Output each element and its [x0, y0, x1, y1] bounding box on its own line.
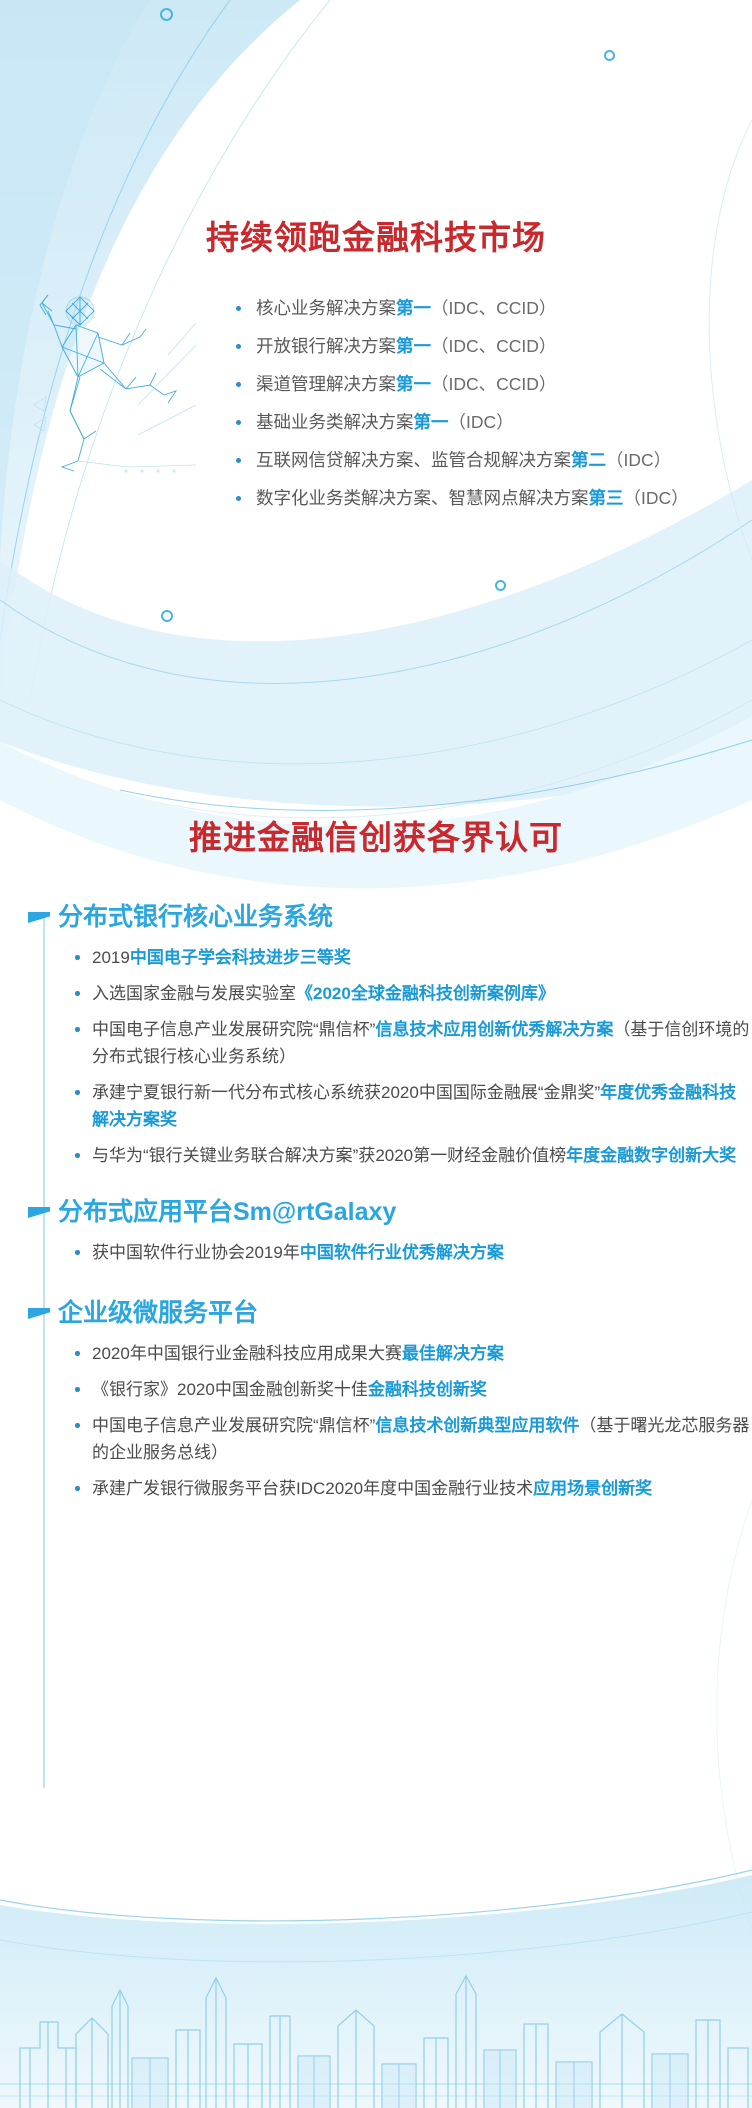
item-part: 中国电子信息产业发展研究院“鼎信杯”: [92, 1416, 375, 1435]
list-item: 开放银行解决方案第一（IDC、CCID）: [232, 334, 702, 359]
item-part: 承建宁夏银行新一代分布式核心系统获2020中国国际金融展“金鼎奖”: [92, 1083, 600, 1102]
item-part: 2019: [92, 948, 130, 967]
bullet-source: （IDC、CCID）: [431, 298, 556, 318]
list-item: 承建广发银行微服务平台获IDC2020年度中国金融行业技术应用场景创新奖: [72, 1475, 752, 1502]
list-item: 与华为“银行关键业务联合解决方案”获2020第一财经金融价值榜年度金融数字创新大…: [72, 1142, 752, 1169]
group-heading: 企业级微服务平台: [58, 1296, 752, 1330]
bullet-rank: 第二: [571, 450, 606, 470]
section2-groups: 分布式银行核心业务系统 2019中国电子学会科技进步三等奖 入选国家金融与发展实…: [0, 900, 752, 1511]
group-heading-text: 分布式应用平台Sm@rtGalaxy: [58, 1198, 396, 1226]
bullet-source: （IDC、CCID）: [431, 336, 556, 356]
running-man-wireframe-icon: [18, 285, 198, 475]
group-heading: 分布式银行核心业务系统: [58, 900, 752, 934]
bullet-lead: 基础业务类解决方案: [256, 412, 414, 432]
bullet-rank: 第一: [396, 336, 431, 356]
flag-marker-icon: [28, 1207, 50, 1218]
list-item: 中国电子信息产业发展研究院“鼎信杯”信息技术创新典型应用软件（基于曙光龙芯服务器…: [72, 1412, 752, 1466]
list-item: 承建宁夏银行新一代分布式核心系统获2020中国国际金融展“金鼎奖”年度优秀金融科…: [72, 1079, 752, 1133]
item-highlight: 中国电子学会科技进步三等奖: [130, 948, 351, 967]
list-item: 获中国软件行业协会2019年中国软件行业优秀解决方案: [72, 1239, 752, 1266]
item-highlight: 《2020全球金融科技创新案例库》: [296, 984, 555, 1003]
bullet-rank: 第三: [589, 488, 624, 508]
item-highlight: 应用场景创新奖: [533, 1479, 652, 1498]
bullet-source: （IDC）: [624, 488, 689, 508]
bullet-rank: 第一: [396, 374, 431, 394]
poster-page: 持续领跑金融科技市场 核心业务解决方案第一（IDC、CCID） 开放银行解决方案…: [0, 0, 752, 2108]
list-item: 渠道管理解决方案第一（IDC、CCID）: [232, 372, 702, 397]
group-microservice-platform: 企业级微服务平台 2020年中国银行业金融科技应用成果大赛最佳解决方案 《银行家…: [0, 1296, 752, 1502]
list-item: 入选国家金融与发展实验室《2020全球金融科技创新案例库》: [72, 980, 752, 1007]
item-highlight: 年度金融数字创新大奖: [566, 1146, 736, 1165]
section1-title: 持续领跑金融科技市场: [0, 218, 752, 258]
list-item: 互联网信贷解决方案、监管合规解决方案第二（IDC）: [232, 448, 702, 473]
item-highlight: 金融科技创新奖: [368, 1380, 487, 1399]
item-highlight: 信息技术应用创新优秀解决方案: [375, 1020, 613, 1039]
bullet-lead: 开放银行解决方案: [256, 336, 396, 356]
list-item: 数字化业务类解决方案、智慧网点解决方案第三（IDC）: [232, 486, 702, 511]
flag-marker-icon: [28, 912, 50, 923]
bullet-source: （IDC、CCID）: [431, 374, 556, 394]
item-highlight: 最佳解决方案: [402, 1344, 504, 1363]
list-item: 2020年中国银行业金融科技应用成果大赛最佳解决方案: [72, 1340, 752, 1367]
bullet-source: （IDC）: [449, 412, 514, 432]
section2-title: 推进金融信创获各界认可: [0, 818, 752, 858]
bullet-source: （IDC）: [606, 450, 671, 470]
group-item-list: 2019中国电子学会科技进步三等奖 入选国家金融与发展实验室《2020全球金融科…: [72, 944, 752, 1169]
list-item: 《银行家》2020中国金融创新奖十佳金融科技创新奖: [72, 1376, 752, 1403]
group-heading: 分布式应用平台Sm@rtGalaxy: [58, 1195, 752, 1229]
bullet-rank: 第一: [396, 298, 431, 318]
list-item: 核心业务解决方案第一（IDC、CCID）: [232, 296, 702, 321]
list-item: 2019中国电子学会科技进步三等奖: [72, 944, 752, 971]
item-part: 《银行家》2020中国金融创新奖十佳: [92, 1380, 368, 1399]
city-skyline-silhouette-icon: [0, 1898, 752, 2108]
item-part: 2020年中国银行业金融科技应用成果大赛: [92, 1344, 402, 1363]
group-item-list: 获中国软件行业协会2019年中国软件行业优秀解决方案: [72, 1239, 752, 1266]
bullet-lead: 互联网信贷解决方案、监管合规解决方案: [256, 450, 571, 470]
item-part: 中国电子信息产业发展研究院“鼎信杯”: [92, 1020, 375, 1039]
item-part: 获中国软件行业协会2019年: [92, 1243, 300, 1262]
item-part: 与华为“银行关键业务联合解决方案”获2020第一财经金融价值榜: [92, 1146, 566, 1165]
group-heading-text: 分布式银行核心业务系统: [58, 903, 333, 931]
item-highlight: 信息技术创新典型应用软件: [375, 1416, 579, 1435]
bullet-rank: 第一: [414, 412, 449, 432]
item-part: 入选国家金融与发展实验室: [92, 984, 296, 1003]
bullet-lead: 数字化业务类解决方案、智慧网点解决方案: [256, 488, 589, 508]
section-market-leadership: 持续领跑金融科技市场 核心业务解决方案第一（IDC、CCID） 开放银行解决方案…: [0, 0, 752, 820]
section1-bullet-list: 核心业务解决方案第一（IDC、CCID） 开放银行解决方案第一（IDC、CCID…: [232, 296, 702, 524]
list-item: 基础业务类解决方案第一（IDC）: [232, 410, 702, 435]
flag-marker-icon: [28, 1308, 50, 1319]
item-part: 承建广发银行微服务平台获IDC2020年度中国金融行业技术: [92, 1479, 533, 1498]
bullet-lead: 核心业务解决方案: [256, 298, 396, 318]
list-item: 中国电子信息产业发展研究院“鼎信杯”信息技术应用创新优秀解决方案（基于信创环境的…: [72, 1016, 752, 1070]
group-heading-text: 企业级微服务平台: [58, 1299, 258, 1327]
group-item-list: 2020年中国银行业金融科技应用成果大赛最佳解决方案 《银行家》2020中国金融…: [72, 1340, 752, 1502]
group-core-banking: 分布式银行核心业务系统 2019中国电子学会科技进步三等奖 入选国家金融与发展实…: [0, 900, 752, 1169]
bullet-lead: 渠道管理解决方案: [256, 374, 396, 394]
item-highlight: 中国软件行业优秀解决方案: [300, 1243, 504, 1262]
group-smartgalaxy: 分布式应用平台Sm@rtGalaxy 获中国软件行业协会2019年中国软件行业优…: [0, 1195, 752, 1266]
